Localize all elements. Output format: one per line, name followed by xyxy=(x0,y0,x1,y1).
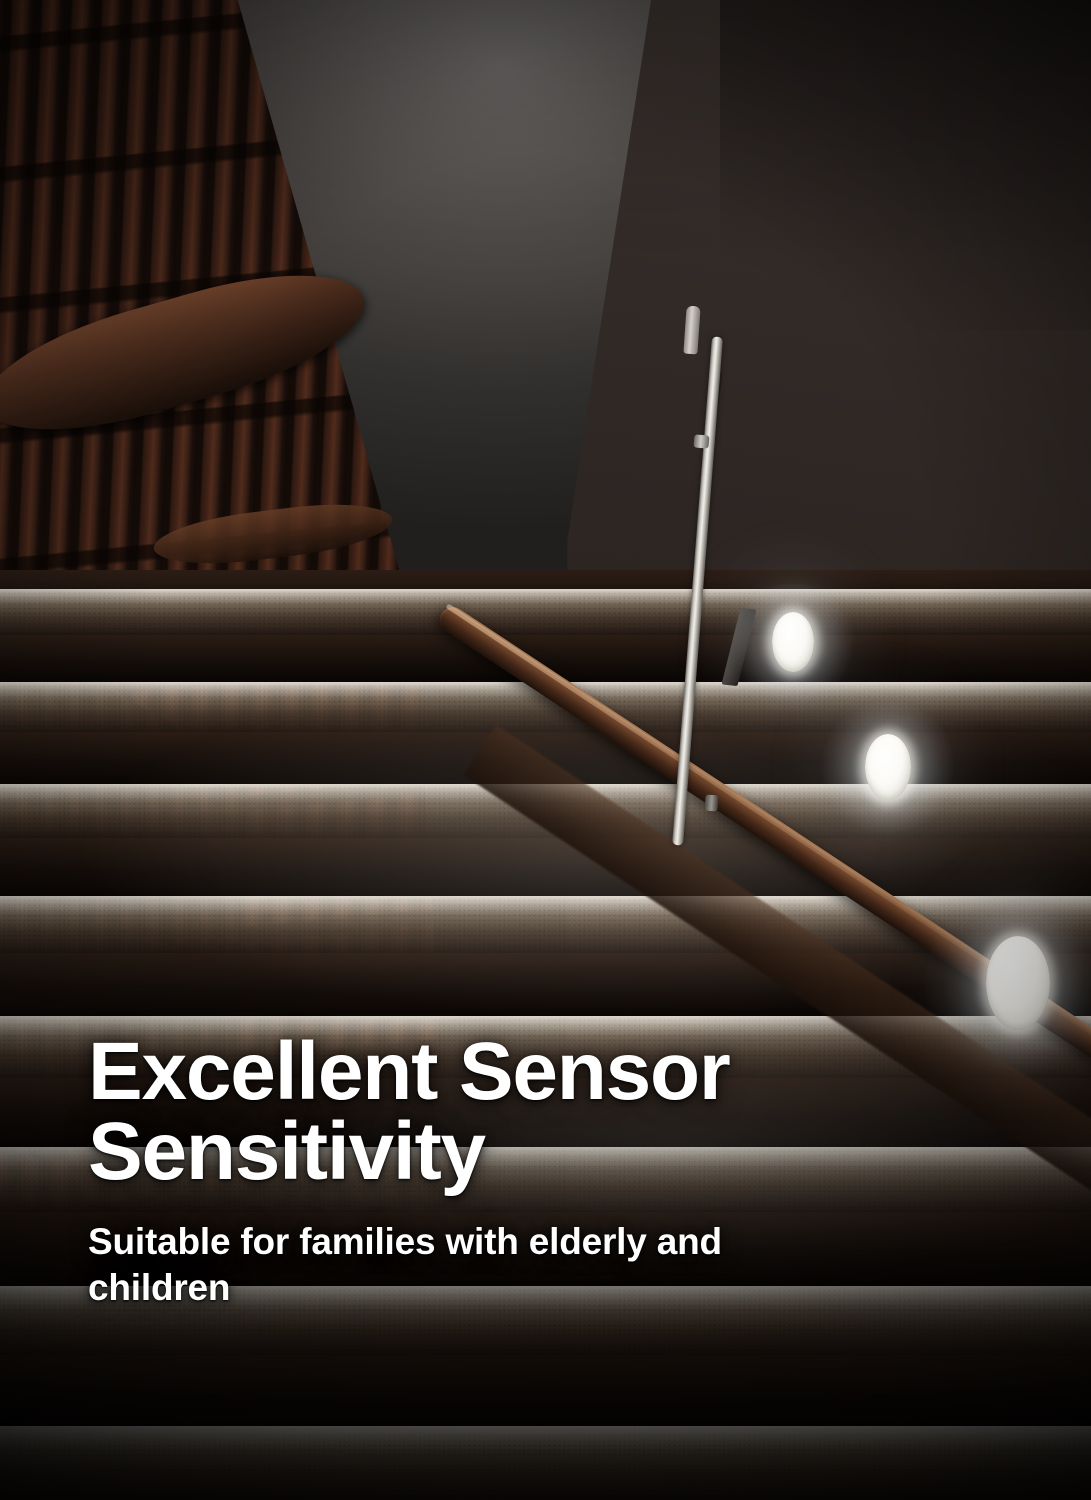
stair-step xyxy=(0,589,1091,636)
page-title: Excellent Sensor Sensitivity xyxy=(88,1032,938,1193)
page-subtitle: Suitable for families with elderly and c… xyxy=(88,1219,808,1312)
sensor-light-2[interactable] xyxy=(865,734,911,800)
cane-collar xyxy=(693,434,709,448)
sensor-light-3[interactable] xyxy=(986,936,1050,1030)
caption-block: Excellent Sensor Sensitivity Suitable fo… xyxy=(88,1032,938,1312)
product-feature-poster: Excellent Sensor Sensitivity Suitable fo… xyxy=(0,0,1091,1500)
ceiling-shadow xyxy=(720,0,1091,330)
stair-step xyxy=(0,1426,1091,1500)
cane-tip xyxy=(704,795,718,812)
